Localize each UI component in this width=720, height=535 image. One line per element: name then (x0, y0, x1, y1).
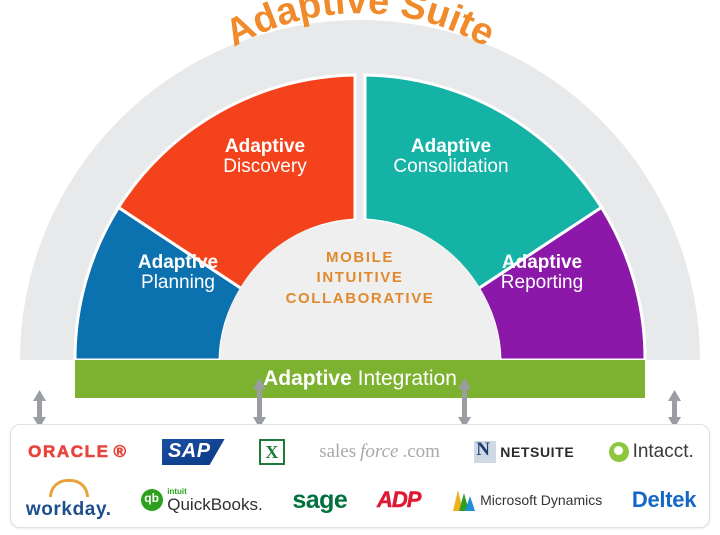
partner-row-1: ORACLE ® SAP X salesforce.com NETSUITE I… (11, 429, 710, 475)
logo-netsuite[interactable]: NETSUITE (474, 441, 574, 463)
integration-bold: Adaptive (263, 367, 352, 390)
workday-arc-icon (49, 479, 89, 497)
logo-deltek[interactable]: Deltek (632, 487, 696, 513)
double-arrow-vertical-icon (33, 390, 46, 428)
logo-intacct[interactable]: Intacct. (609, 441, 694, 463)
quickbooks-text: QuickBooks. (167, 495, 262, 514)
hub-line-2: INTUITIVE (250, 268, 470, 288)
sage-wordmark: sage (292, 486, 347, 515)
oracle-wordmark: ORACLE (28, 442, 109, 462)
logo-adp[interactable]: ADP (377, 487, 420, 513)
logo-workday[interactable]: workday. (26, 479, 112, 521)
salesforce-part-3: .com (402, 441, 439, 463)
hub-text: MOBILE INTUITIVE COLLABORATIVE (250, 248, 470, 309)
deltek-wordmark: Deltek (632, 487, 696, 513)
salesforce-part-2: force (360, 441, 398, 463)
logo-quickbooks[interactable]: intuit QuickBooks. (141, 488, 262, 513)
workday-wordmark: workday. (26, 499, 112, 521)
logo-microsoft-dynamics[interactable]: Microsoft Dynamics (450, 488, 602, 512)
netsuite-wordmark: NETSUITE (500, 444, 574, 460)
excel-icon: X (259, 439, 285, 465)
logo-salesforce[interactable]: salesforce.com (319, 441, 440, 463)
hub-line-3: COLLABORATIVE (250, 289, 470, 309)
adp-wordmark: ADP (377, 487, 420, 513)
integration-bar-label: Adaptive Integration (0, 367, 720, 391)
intacct-mark-icon (609, 442, 629, 462)
microsoft-dynamics-wordmark: Microsoft Dynamics (480, 492, 602, 508)
sap-wordmark: SAP (162, 439, 225, 465)
quickbooks-wordmark: intuit QuickBooks. (167, 488, 262, 513)
logo-sap[interactable]: SAP (162, 439, 225, 465)
logo-oracle[interactable]: ORACLE ® (28, 442, 128, 462)
salesforce-part-1: sales (319, 441, 356, 463)
adaptive-suite-diagram: Adaptive Suite Adaptive Planning Adaptiv… (0, 0, 720, 535)
logo-excel[interactable]: X (259, 439, 285, 465)
logo-sage[interactable]: sage (292, 486, 347, 515)
partner-row-2: workday. intuit QuickBooks. sage ADP (11, 477, 710, 523)
intacct-wordmark: Intacct. (633, 441, 694, 463)
quickbooks-circle-icon (141, 489, 163, 511)
microsoft-dynamics-mark-icon (450, 488, 476, 512)
integration-light: Integration (358, 367, 457, 390)
partner-logos-panel: ORACLE ® SAP X salesforce.com NETSUITE I… (10, 424, 710, 528)
oracle-registered-icon: ® (114, 442, 128, 462)
double-arrow-vertical-icon (668, 390, 681, 428)
netsuite-mark-icon (474, 441, 496, 463)
hub-line-1: MOBILE (250, 248, 470, 268)
